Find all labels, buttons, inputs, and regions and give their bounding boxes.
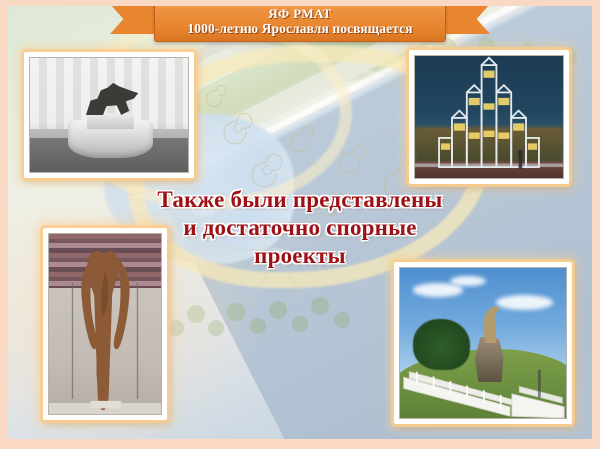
banner-dedication-text: 1000-летию Ярославля посвящается bbox=[187, 21, 412, 37]
slide-title-line-1: Также были представлены bbox=[120, 186, 480, 214]
slide-frame-left bbox=[0, 0, 8, 449]
illuminated-tower-photo[interactable] bbox=[409, 50, 569, 184]
tower-structure-graphic bbox=[415, 56, 563, 178]
title-ribbon-banner: ЯФ РМАТ 1000-летию Ярославля посвящается bbox=[154, 0, 446, 46]
slide-title-line-3: проекты bbox=[120, 242, 480, 270]
equestrian-monument-photo[interactable] bbox=[24, 52, 194, 178]
presentation-slide: ЯФ РМАТ 1000-летию Ярославля посвящается bbox=[0, 0, 600, 449]
equestrian-monument-image bbox=[29, 57, 189, 173]
bear-statue-photo[interactable] bbox=[394, 262, 572, 424]
illuminated-tower-image bbox=[414, 55, 564, 179]
slide-frame-right bbox=[592, 0, 600, 449]
slide-frame-top bbox=[0, 0, 600, 6]
bear-staircase-and-railing bbox=[400, 268, 566, 418]
slide-title-line-2: и достаточно спорные bbox=[120, 214, 480, 242]
banner-organization-name: ЯФ РМАТ bbox=[268, 6, 331, 21]
slide-title: Также были представлены и достаточно спо… bbox=[120, 186, 480, 270]
bear-statue-image bbox=[399, 267, 567, 419]
ribbon-body: ЯФ РМАТ 1000-летию Ярославля посвящается bbox=[154, 0, 446, 42]
equestrian-plinth bbox=[87, 113, 134, 129]
slide-frame-bottom bbox=[0, 439, 600, 449]
